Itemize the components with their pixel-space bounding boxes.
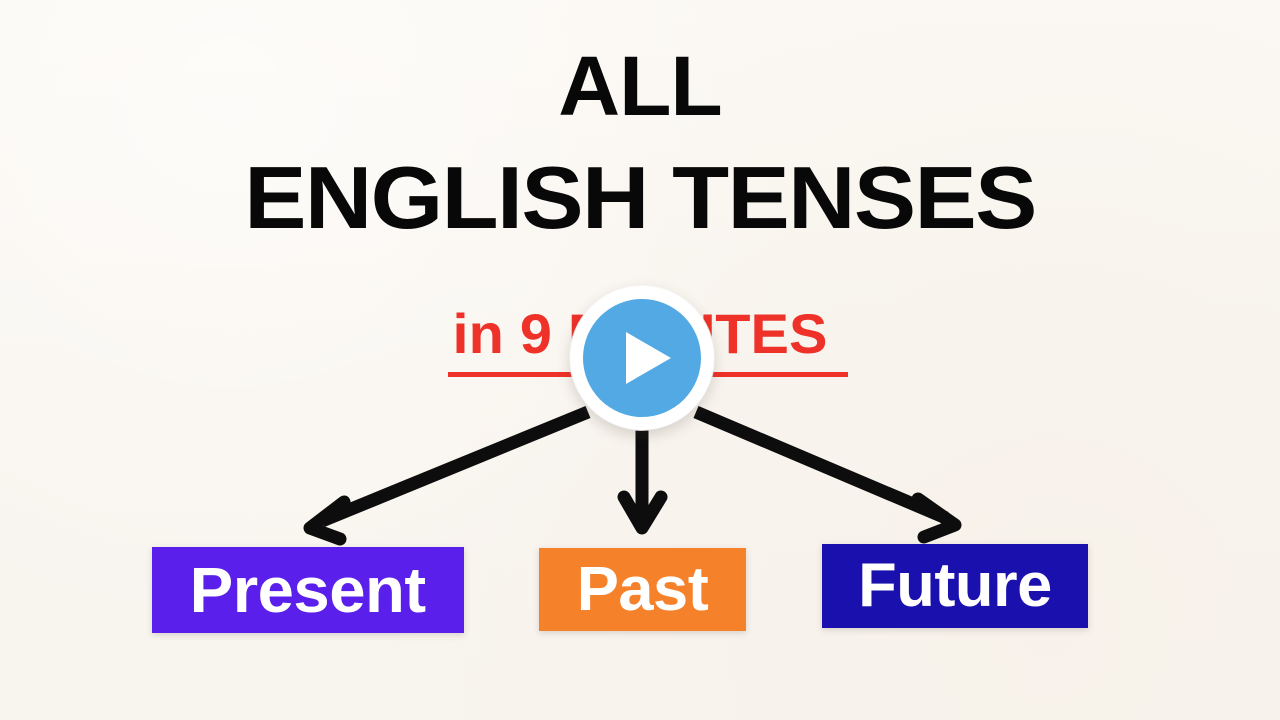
headline-line-2: ENGLISH TENSES — [0, 154, 1280, 242]
thumbnail-canvas: ALL ENGLISH TENSES in 9 MINUTES Present — [0, 0, 1280, 720]
tense-box-future-label: Future — [858, 555, 1052, 617]
tense-box-future[interactable]: Future — [822, 544, 1088, 628]
tense-box-past-label: Past — [577, 559, 709, 621]
play-triangle-icon — [626, 332, 671, 384]
arrow-to-present — [310, 412, 588, 539]
headline-line-1: ALL — [0, 44, 1280, 128]
arrow-to-past — [624, 430, 661, 528]
arrow-to-future — [696, 412, 955, 537]
play-button[interactable] — [570, 286, 714, 430]
headline-block: ALL ENGLISH TENSES — [0, 44, 1280, 242]
tense-box-present[interactable]: Present — [152, 547, 464, 633]
tense-box-present-label: Present — [190, 558, 426, 622]
tense-box-past[interactable]: Past — [539, 548, 746, 631]
